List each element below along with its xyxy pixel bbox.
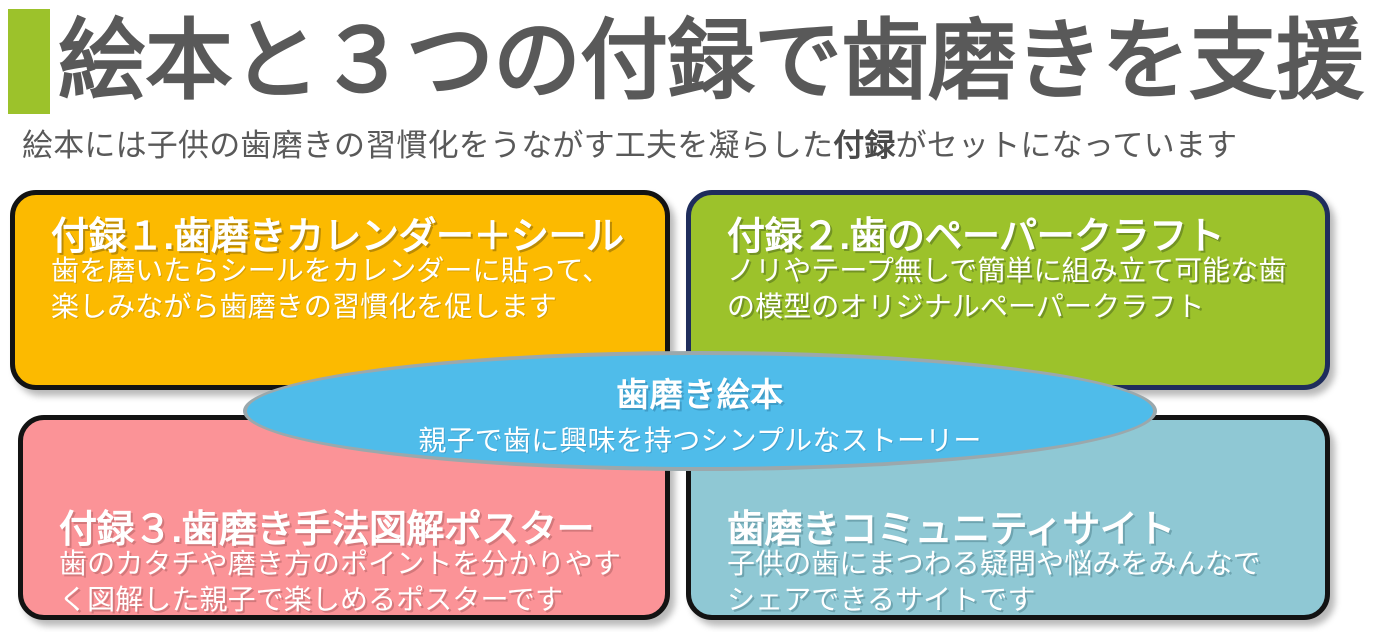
card-appendix-3-body-line-1: 歯のカタチや磨き方のポイントを分かりやす xyxy=(59,546,621,582)
card-appendix-1-body-line-1: 歯を磨いたらシールをカレンダーに貼って、 xyxy=(51,253,610,289)
center-ellipse-subtitle: 親子で歯に興味を持つシンプルなストーリー xyxy=(247,419,1153,459)
card-community-body-line-2: シェアできるサイトです xyxy=(727,582,1261,618)
card-appendix-3-title: 付録３.歯磨き手法図解ポスター xyxy=(59,498,594,553)
subtitle-prefix: 絵本には子供の歯磨きの習慣化をうながす工夫を凝らした xyxy=(22,128,833,163)
center-ellipse-title: 歯磨き絵本 xyxy=(247,368,1153,416)
page-subtitle: 絵本には子供の歯磨きの習慣化をうながす工夫を凝らした付録がセットになっています xyxy=(22,124,1362,168)
center-ellipse-picture-book[interactable]: 歯磨き絵本 親子で歯に興味を持つシンプルなストーリー xyxy=(243,351,1157,471)
card-appendix-2-body-line-2: の模型のオリジナルペーパークラフト xyxy=(727,289,1286,325)
card-appendix-3-body-line-2: く図解した親子で楽しめるポスターです xyxy=(59,582,621,618)
card-appendix-3-body: 歯のカタチや磨き方のポイントを分かりやす く図解した親子で楽しめるポスターです xyxy=(59,546,621,618)
card-community-body: 子供の歯にまつわる疑問や悩みをみんなで シェアできるサイトです xyxy=(727,546,1261,618)
page-title: 絵本と３つの付録で歯磨きを支援 xyxy=(58,2,1368,120)
card-appendix-1-body-line-2: 楽しみながら歯磨きの習慣化を促します xyxy=(51,289,610,325)
card-community-body-line-1: 子供の歯にまつわる疑問や悩みをみんなで xyxy=(727,546,1261,582)
card-appendix-2-title: 付録２.歯のペーパークラフト xyxy=(727,205,1224,260)
card-appendix-1-body: 歯を磨いたらシールをカレンダーに貼って、 楽しみながら歯磨きの習慣化を促します xyxy=(51,253,610,325)
subtitle-suffix: がセットになっています xyxy=(896,128,1238,163)
card-appendix-2-body-line-1: ノリやテープ無しで簡単に組み立て可能な歯 xyxy=(727,253,1286,289)
title-accent-bar xyxy=(8,9,50,114)
card-community-title: 歯磨きコミュニティサイト xyxy=(727,498,1175,553)
slide-canvas: 絵本と３つの付録で歯磨きを支援 絵本には子供の歯磨きの習慣化をうながす工夫を凝ら… xyxy=(0,0,1374,632)
card-appendix-1-title: 付録１.歯磨きカレンダー＋シール xyxy=(51,205,624,260)
card-appendix-2-body: ノリやテープ無しで簡単に組み立て可能な歯 の模型のオリジナルペーパークラフト xyxy=(727,253,1286,325)
subtitle-bold-term: 付録 xyxy=(833,128,895,163)
